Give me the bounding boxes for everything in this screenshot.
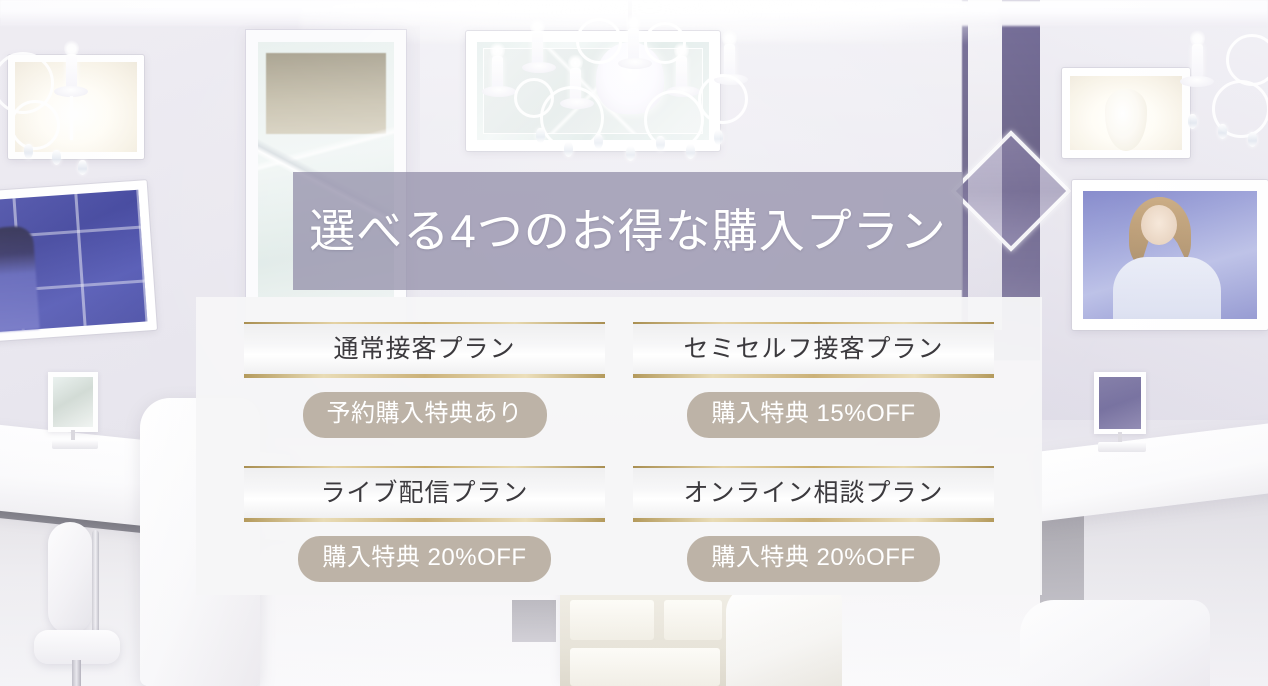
plan-title-bar: オンライン相談プラン <box>633 466 994 522</box>
wall-sconce-icon <box>6 26 136 176</box>
plan-title-bar: 通常接客プラン <box>244 322 605 378</box>
plan-title-bar: ライブ配信プラン <box>244 466 605 522</box>
wall-sconce-icon <box>1196 28 1268 178</box>
plan-badge-row: 購入特典 20%OFF <box>633 536 994 582</box>
page-root: 選べる4つのお得な購入プラン 通常接客プラン 予約購入特典あり セミセルフ接客プ… <box>0 0 1268 686</box>
plan-grid: 通常接客プラン 予約購入特典あり セミセルフ接客プラン 購入特典 15%OFF … <box>244 322 994 582</box>
display-screen-icon <box>0 180 157 342</box>
salon-chair-icon <box>42 522 134 686</box>
plan-benefit-badge: 購入特典 20%OFF <box>687 536 939 582</box>
display-screen-icon <box>1072 180 1268 330</box>
plan-title-bar: セミセルフ接客プラン <box>633 322 994 378</box>
plan-benefit-badge: 予約購入特典あり <box>303 392 547 438</box>
title-banner: 選べる4つのお得な購入プラン <box>293 172 963 290</box>
plan-benefit-badge: 購入特典 20%OFF <box>298 536 550 582</box>
plan-card-semi-self[interactable]: セミセルフ接客プラン 購入特典 15%OFF <box>633 322 994 438</box>
plan-card-online-consult[interactable]: オンライン相談プラン 購入特典 20%OFF <box>633 466 994 582</box>
table-mirror-icon <box>48 372 104 448</box>
plans-panel: 通常接客プラン 予約購入特典あり セミセルフ接客プラン 購入特典 15%OFF … <box>196 297 1042 595</box>
plan-title: 通常接客プラン <box>333 337 515 362</box>
bench-side-panel <box>512 600 556 642</box>
plan-benefit-badge: 購入特典 15%OFF <box>687 392 939 438</box>
salon-chair-icon <box>726 586 842 686</box>
plan-badge-row: 購入特典 15%OFF <box>633 392 994 438</box>
plan-title: ライブ配信プラン <box>320 481 528 506</box>
plan-title: オンライン相談プラン <box>683 481 943 506</box>
plan-badge-row: 予約購入特典あり <box>244 392 605 438</box>
chandelier-icon <box>480 0 780 174</box>
table-mirror-icon <box>1094 372 1150 456</box>
picture-frame-icon <box>1062 68 1190 158</box>
plan-card-normal[interactable]: 通常接客プラン 予約購入特典あり <box>244 322 605 438</box>
plan-card-live-stream[interactable]: ライブ配信プラン 購入特典 20%OFF <box>244 466 605 582</box>
page-title: 選べる4つのお得な購入プラン <box>309 208 947 254</box>
plan-title: セミセルフ接客プラン <box>683 337 943 362</box>
armchair-icon <box>1020 600 1210 686</box>
plan-badge-row: 購入特典 20%OFF <box>244 536 605 582</box>
